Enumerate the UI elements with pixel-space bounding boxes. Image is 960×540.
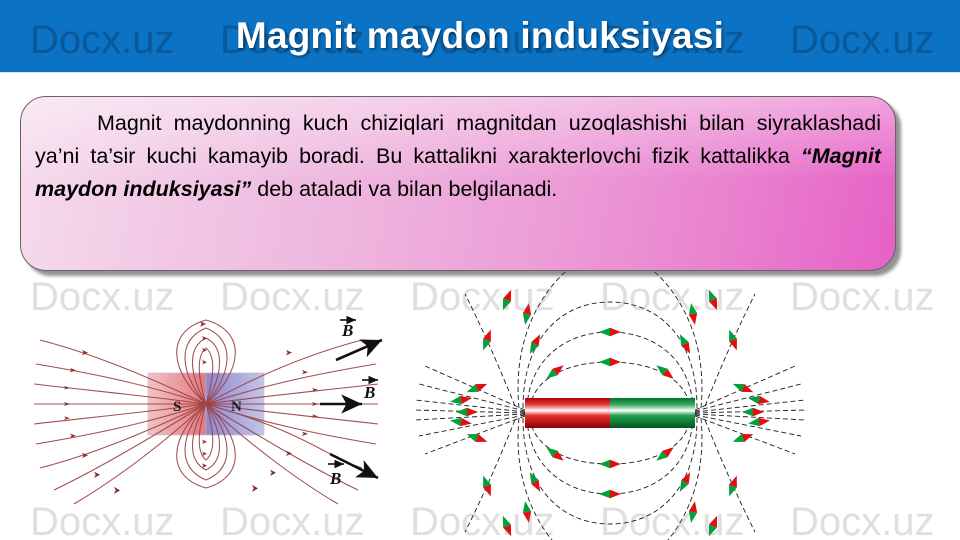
- compass-needle: [526, 470, 544, 493]
- b-vector-top: B: [336, 320, 382, 360]
- compass-needle: [499, 514, 515, 538]
- compass-needle: [725, 328, 740, 352]
- b-vector-middle: B: [320, 380, 378, 404]
- needle-tail: [687, 511, 697, 523]
- needle-tip: [610, 490, 621, 498]
- compass-needle: [465, 430, 489, 445]
- compass-needle: [479, 474, 494, 498]
- b-vector-label: B: [363, 383, 375, 402]
- slide-title-bar: Docx.uz Docx.uz Docx.uz Docx.uz Docx.uz …: [0, 0, 960, 72]
- needle-tip: [610, 328, 621, 336]
- magnet-red-half: [525, 398, 610, 428]
- compass-needle: [465, 380, 489, 396]
- compass-needle: [705, 288, 721, 312]
- slide-canvas: Docx.uzDocx.uzDocx.uzDocx.uzDocx.uzDocx.…: [0, 0, 960, 540]
- needle-tail: [599, 460, 610, 468]
- paragraph-part-1: Magnit maydonning kuch chiziqlari magnit…: [35, 111, 881, 168]
- needle-tip: [523, 511, 533, 523]
- compass-needle: [654, 444, 677, 464]
- magnet-green-half: [610, 398, 695, 428]
- needle-tip: [753, 408, 764, 416]
- needle-tail: [456, 408, 467, 416]
- magnet-bar: [525, 398, 695, 428]
- compass-needle: [742, 408, 764, 416]
- left-diagram-svg: S N B B B: [30, 318, 400, 518]
- watermark-text: Docx.uz: [220, 275, 365, 320]
- compass-needle: [687, 500, 699, 523]
- compass-needle: [731, 430, 755, 445]
- compass-needle: [676, 332, 694, 355]
- needle-tip: [610, 460, 621, 468]
- watermark-text: Docx.uz: [790, 275, 935, 320]
- watermark-text: Docx.uz: [30, 275, 175, 320]
- needle-tail: [521, 500, 531, 512]
- needle-tail: [599, 328, 610, 336]
- watermark-text: Docx.uz: [790, 500, 935, 540]
- bar-magnet-compass-needles-diagram: [415, 288, 805, 538]
- compass-needle: [731, 380, 755, 396]
- compass-needle: [526, 332, 544, 355]
- north-pole-label: N: [231, 399, 242, 415]
- b-vector-bottom: B: [328, 454, 378, 488]
- compass-needle: [521, 302, 533, 325]
- needle-tip: [523, 302, 533, 314]
- needle-tail: [687, 302, 697, 314]
- needle-tip: [689, 500, 699, 512]
- b-vector-label: B: [329, 469, 341, 488]
- compass-needle: [599, 358, 621, 366]
- needle-tip: [689, 313, 699, 325]
- b-vector-label: B: [341, 321, 353, 340]
- needle-tail: [599, 358, 610, 366]
- compass-needle: [499, 288, 515, 312]
- compass-needle: [599, 490, 621, 498]
- needle-tip: [610, 358, 621, 366]
- compass-needle: [599, 328, 621, 336]
- compass-needle: [687, 302, 699, 325]
- paragraph-part-2: deb ataladi va bilan belgilanadi.: [251, 177, 557, 201]
- south-pole-label: S: [173, 399, 181, 415]
- compass-needle: [479, 328, 494, 352]
- needle-tail: [521, 313, 531, 325]
- page-title: Magnit maydon induksiyasi: [0, 0, 960, 72]
- compass-needle: [521, 500, 533, 523]
- compass-needle: [654, 362, 677, 382]
- right-diagram-svg: [415, 288, 805, 538]
- needle-tail: [747, 394, 759, 404]
- needle-tail: [742, 408, 753, 416]
- compass-needle: [676, 470, 694, 493]
- needle-tip: [467, 408, 478, 416]
- compass-needle: [599, 460, 621, 468]
- content-box: Magnit maydonning kuch chiziqlari magnit…: [20, 96, 896, 271]
- bar-magnet-field-lines-diagram: S N B B B: [30, 318, 400, 518]
- compass-needle: [456, 408, 478, 416]
- needle-tail: [599, 490, 610, 498]
- needle-tip: [460, 394, 472, 404]
- content-paragraph: Magnit maydonning kuch chiziqlari magnit…: [35, 107, 881, 206]
- compass-needle: [725, 474, 740, 498]
- compass-needle: [705, 514, 721, 538]
